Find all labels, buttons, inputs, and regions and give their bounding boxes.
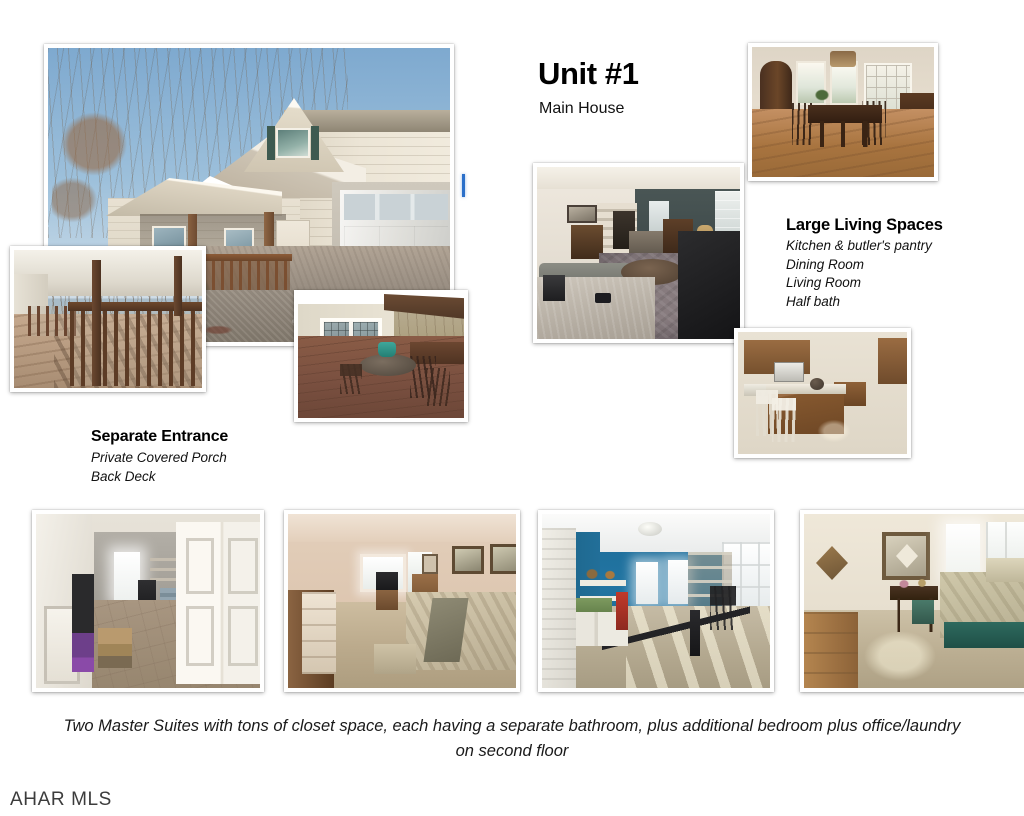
page-subtitle: Main House xyxy=(539,100,624,118)
office-laundry-image xyxy=(36,514,260,688)
porch-post-center xyxy=(92,260,101,386)
photo-blue-bedroom[interactable] xyxy=(538,510,774,692)
patio-chair-left xyxy=(340,364,362,394)
living-spaces-item: Half bath xyxy=(786,293,986,312)
dining-room-image xyxy=(752,47,934,177)
shelf-items xyxy=(584,566,626,581)
decor-bowl xyxy=(810,378,824,390)
photo-dining-room[interactable] xyxy=(748,43,938,181)
second-master-bedroom-image xyxy=(804,514,1024,688)
microwave xyxy=(774,362,804,382)
ceiling xyxy=(537,167,740,189)
garage-door-windows xyxy=(344,194,448,220)
green-bin xyxy=(912,600,934,624)
closet-door xyxy=(542,528,576,688)
white-dresser-drawers xyxy=(302,592,336,674)
living-spaces-section: Large Living Spaces Kitchen & butler's p… xyxy=(786,216,986,311)
back-deck-image xyxy=(298,294,464,418)
dining-table-legs xyxy=(810,121,880,147)
page-title: Unit #1 xyxy=(538,56,639,92)
pendant-light xyxy=(830,51,856,67)
boxes-on-floor xyxy=(98,628,132,668)
window-center xyxy=(668,560,688,604)
sunlight-patch xyxy=(854,624,944,688)
separate-entrance-item: Private Covered Porch xyxy=(91,448,311,467)
bottom-caption: Two Master Suites with tons of closet sp… xyxy=(62,714,962,764)
teal-planter xyxy=(378,342,396,357)
living-spaces-item: Dining Room xyxy=(786,256,986,275)
bar-stool-right xyxy=(772,398,796,442)
table-decor xyxy=(896,576,938,590)
red-item xyxy=(616,592,628,630)
plant xyxy=(812,87,832,103)
window-left xyxy=(636,562,658,604)
wooden-dresser xyxy=(804,612,858,688)
dormer-shutter-right xyxy=(311,126,319,160)
closet-panel-1 xyxy=(186,538,214,594)
separate-entrance-section: Separate Entrance Private Covered Porch … xyxy=(91,428,311,486)
wall-art xyxy=(567,205,597,223)
vacuum-cleaner xyxy=(72,574,94,672)
exercise-bar-post xyxy=(690,610,700,656)
blue-bedroom-image xyxy=(542,514,770,688)
camera-bag xyxy=(543,275,565,301)
window-center xyxy=(830,61,858,105)
bistro-table xyxy=(360,354,416,376)
kitchen-image xyxy=(738,332,907,454)
photo-covered-porch[interactable] xyxy=(10,246,206,392)
living-room-image xyxy=(537,167,740,339)
bed-step-stool xyxy=(374,644,416,674)
photo-kitchen[interactable] xyxy=(734,328,911,458)
nightstand xyxy=(376,588,398,610)
closet-panel-2 xyxy=(186,606,214,666)
separate-entrance-item: Back Deck xyxy=(91,467,311,486)
floor-highlight xyxy=(812,416,856,446)
living-spaces-heading: Large Living Spaces xyxy=(786,216,986,235)
caption-line-1: Two Master Suites with tons of closet sp… xyxy=(64,717,823,735)
photo-master-bedroom[interactable] xyxy=(284,510,520,692)
photo-back-deck[interactable] xyxy=(294,290,468,422)
master-bedroom-image xyxy=(288,514,516,688)
porch-railing-balusters xyxy=(70,308,202,386)
ceiling-light xyxy=(638,522,662,536)
framed-art-center xyxy=(452,546,484,574)
text-cursor[interactable] xyxy=(462,174,465,197)
piano xyxy=(678,231,740,339)
island-countertop xyxy=(766,384,846,394)
window xyxy=(114,552,140,600)
porch-post-right xyxy=(174,256,182,316)
framed-art-small xyxy=(422,554,438,574)
dormer-window xyxy=(276,128,310,158)
pillows xyxy=(986,558,1024,582)
living-spaces-item: Kitchen & butler's pantry xyxy=(786,237,986,256)
photo-living-room[interactable] xyxy=(533,163,744,343)
separate-entrance-heading: Separate Entrance xyxy=(91,428,311,446)
phone-on-table xyxy=(595,293,611,303)
flyer-canvas: Unit #1 Main House Large Living Spaces K… xyxy=(0,0,1024,816)
photo-office-laundry[interactable] xyxy=(32,510,264,692)
patio-chair-front xyxy=(426,368,450,406)
dormer-shutter-left xyxy=(267,126,275,160)
living-spaces-item: Living Room xyxy=(786,274,986,293)
footer-brand: AHAR MLS xyxy=(10,789,112,811)
framed-art-right xyxy=(490,544,516,574)
closet-panel-4 xyxy=(228,606,258,666)
closet-panel-3 xyxy=(228,538,258,594)
covered-porch-image xyxy=(14,250,202,388)
bed-skirt xyxy=(944,622,1024,648)
photo-second-master-bedroom[interactable] xyxy=(800,510,1024,692)
lamp xyxy=(376,572,398,590)
upper-cabinets-right xyxy=(878,338,907,384)
ceiling xyxy=(288,514,516,542)
